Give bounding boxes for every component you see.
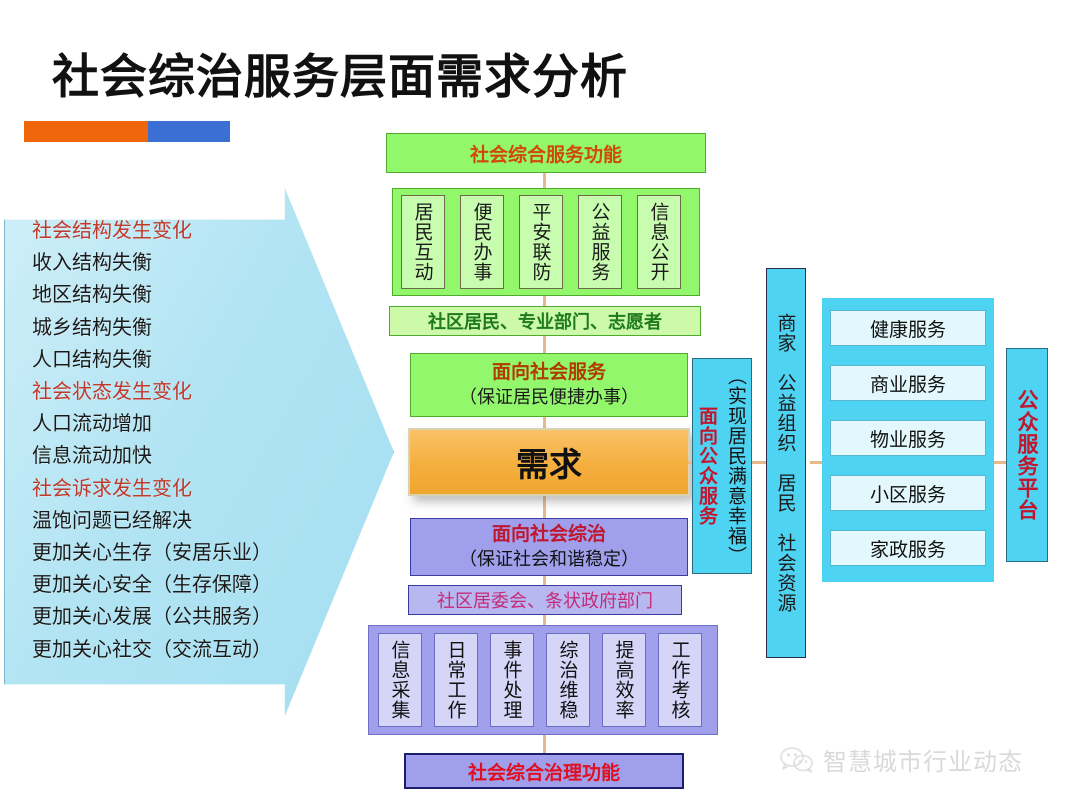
social-resources-bar: 商家 公益组织 居民 社会资源 bbox=[766, 268, 806, 658]
governance-orientation-note: （保证社会和谐稳定） bbox=[459, 547, 639, 572]
service-item-health[interactable]: 健康服务 bbox=[830, 310, 986, 346]
service-orientation-note: （保证居民便捷办事） bbox=[459, 385, 639, 410]
service-cell-info-disclosure[interactable]: 信息公开 bbox=[637, 195, 681, 289]
service-item-community[interactable]: 小区服务 bbox=[830, 475, 986, 511]
watermark-label: 智慧城市行业动态 bbox=[823, 742, 1023, 777]
list-item: 城乡结构失衡 bbox=[32, 311, 332, 343]
list-item: 人口流动增加 bbox=[32, 407, 332, 439]
service-cell-resident-interaction[interactable]: 居民互动 bbox=[401, 195, 445, 289]
list-item: 更加关心生存（安居乐业） bbox=[32, 536, 332, 568]
list-item: 温饱问题已经解决 bbox=[32, 504, 332, 536]
page-title: 社会综治服务层面需求分析 bbox=[52, 38, 628, 107]
governance-actors-band: 社区居委会、条状政府部门 bbox=[408, 585, 682, 615]
public-service-orientation-box: （实现居民满意幸福） 面向公众服务 bbox=[692, 358, 752, 574]
governance-cell-daily-work[interactable]: 日常工作 bbox=[434, 633, 478, 727]
public-service-note: （实现居民满意幸福） bbox=[723, 366, 750, 566]
accent-segment-blue bbox=[148, 121, 230, 142]
public-service-title: 面向公众服务 bbox=[694, 406, 721, 526]
list-item: 人口结构失衡 bbox=[32, 343, 332, 375]
watermark: 智慧城市行业动态 bbox=[780, 742, 1023, 777]
service-cell-safety-defense[interactable]: 平安联防 bbox=[519, 195, 563, 289]
social-governance-function-footer: 社会综合治理功能 bbox=[404, 753, 684, 789]
list-item: 社会诉求发生变化 bbox=[32, 472, 332, 504]
demand-drivers-arrow: 社会结构发生变化 收入结构失衡 地区结构失衡 城乡结构失衡 人口结构失衡 社会状… bbox=[4, 188, 392, 714]
accent-segment-orange bbox=[24, 121, 148, 142]
wechat-icon bbox=[780, 746, 814, 774]
social-service-function-header: 社会综合服务功能 bbox=[386, 133, 706, 173]
service-cell-public-welfare[interactable]: 公益服务 bbox=[578, 195, 622, 289]
governance-cell-info-collection[interactable]: 信息采集 bbox=[378, 633, 422, 727]
list-item: 社会结构发生变化 bbox=[32, 214, 332, 246]
governance-orientation-block: 面向社会综治 （保证社会和谐稳定） bbox=[410, 518, 688, 576]
list-item: 社会状态发生变化 bbox=[32, 375, 332, 407]
service-actors-band: 社区居民、专业部门、志愿者 bbox=[389, 306, 701, 336]
governance-cell-stability-maintenance[interactable]: 综治维稳 bbox=[546, 633, 590, 727]
list-item: 收入结构失衡 bbox=[32, 246, 332, 278]
governance-orientation-title: 面向社会综治 bbox=[492, 522, 606, 547]
list-item: 更加关心安全（生存保障） bbox=[32, 568, 332, 600]
social-resources-label: 商家 公益组织 居民 社会资源 bbox=[773, 313, 800, 613]
service-orientation-title: 面向社会服务 bbox=[492, 360, 606, 385]
governance-cell-event-handling[interactable]: 事件处理 bbox=[490, 633, 534, 727]
core-demand-box: 需求 bbox=[408, 428, 690, 496]
public-service-platform-box: 公众服务平台 bbox=[1006, 348, 1048, 562]
governance-cell-performance-review[interactable]: 工作考核 bbox=[658, 633, 702, 727]
service-orientation-block: 面向社会服务 （保证居民便捷办事） bbox=[410, 353, 688, 417]
service-item-housekeeping[interactable]: 家政服务 bbox=[830, 530, 986, 566]
list-item: 更加关心社交（交流互动） bbox=[32, 633, 332, 665]
demand-drivers-list: 社会结构发生变化 收入结构失衡 地区结构失衡 城乡结构失衡 人口结构失衡 社会状… bbox=[32, 214, 332, 665]
governance-cell-efficiency[interactable]: 提高效率 bbox=[602, 633, 646, 727]
list-item: 更加关心发展（公共服务） bbox=[32, 600, 332, 632]
diagram-canvas: 社会综治服务层面需求分析 社会结构发生变化 收入结构失衡 地区结构失衡 城乡结构… bbox=[0, 0, 1080, 810]
list-item: 信息流动加快 bbox=[32, 439, 332, 471]
service-item-property[interactable]: 物业服务 bbox=[830, 420, 986, 456]
service-cell-convenience[interactable]: 便民办事 bbox=[460, 195, 504, 289]
title-accent-rule bbox=[24, 121, 230, 142]
public-service-platform-label: 公众服务平台 bbox=[1012, 389, 1042, 521]
service-item-commercial[interactable]: 商业服务 bbox=[830, 365, 986, 401]
list-item: 地区结构失衡 bbox=[32, 278, 332, 310]
